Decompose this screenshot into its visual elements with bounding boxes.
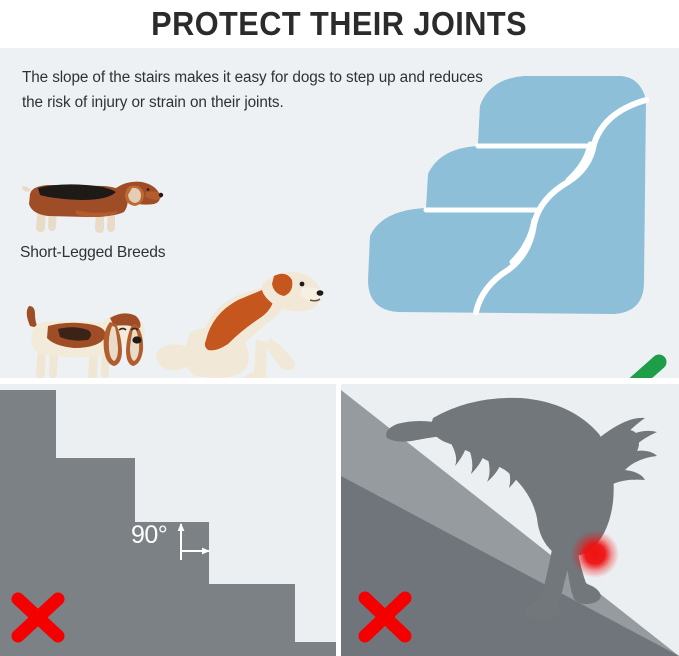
steep-staircase-panel: 90° xyxy=(0,384,336,656)
red-pain-glow-icon xyxy=(571,530,619,578)
angle-label-90-degrees: 90° xyxy=(131,521,167,550)
dog-jumping-ramp-panel xyxy=(341,384,679,656)
page-title: PROTECT THEIR JOINTS xyxy=(152,5,528,43)
sitting-injured-dog-icon xyxy=(150,260,328,378)
green-checkmark-icon xyxy=(575,354,671,378)
title-bar: PROTECT THEIR JOINTS xyxy=(0,0,679,48)
blue-foam-pet-stairs-icon xyxy=(328,48,679,338)
bottom-comparison-row: 90° xyxy=(0,384,679,656)
basset-hound-standing-icon xyxy=(16,164,164,236)
protect-joints-panel: The slope of the stairs makes it easy fo… xyxy=(0,48,679,378)
senior-basset-hound-icon xyxy=(14,294,150,378)
dog-label-short-legged-breeds: Short-Legged Breeds xyxy=(20,244,165,262)
